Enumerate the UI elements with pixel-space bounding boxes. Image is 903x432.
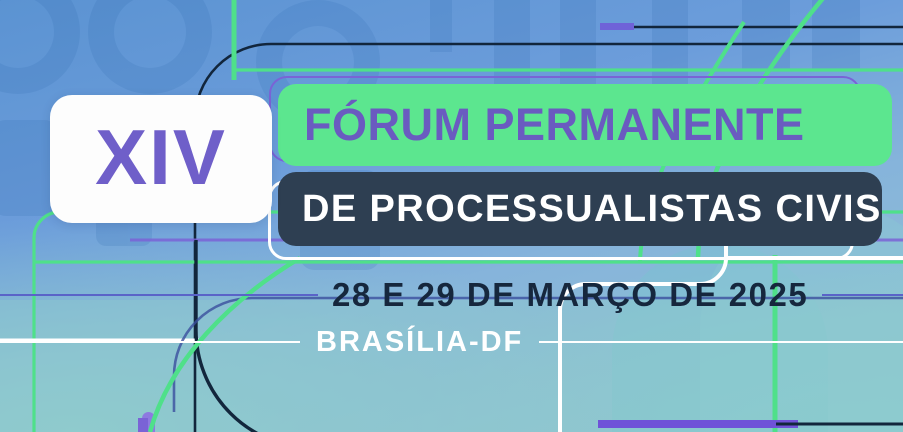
date-rule-right bbox=[822, 294, 903, 296]
event-location: BRASÍLIA-DF bbox=[300, 326, 539, 359]
event-poster: XIV FÓRUM PERMANENTE DE PROCESSUALISTAS … bbox=[0, 0, 903, 432]
edition-number: XIV bbox=[95, 118, 227, 196]
title-line-1: FÓRUM PERMANENTE bbox=[304, 99, 805, 151]
edition-number-card: XIV bbox=[50, 95, 272, 223]
event-date-row: 28 E 29 DE MARÇO DE 2025 bbox=[0, 275, 903, 315]
purple-bar-bottom bbox=[598, 420, 798, 428]
title-line-2: DE PROCESSUALISTAS CIVIS bbox=[302, 188, 882, 231]
teal-wash bbox=[0, 300, 903, 432]
purple-tick-bottom bbox=[138, 418, 148, 432]
purple-tick-top bbox=[600, 23, 634, 30]
event-location-row: BRASÍLIA-DF bbox=[0, 322, 903, 362]
event-date: 28 E 29 DE MARÇO DE 2025 bbox=[318, 276, 822, 314]
location-rule-right bbox=[539, 341, 903, 344]
date-rule-left bbox=[0, 294, 318, 296]
location-rule-left bbox=[0, 341, 300, 344]
title-band-secondary: DE PROCESSUALISTAS CIVIS bbox=[278, 172, 882, 246]
title-band-primary: FÓRUM PERMANENTE bbox=[278, 84, 892, 166]
